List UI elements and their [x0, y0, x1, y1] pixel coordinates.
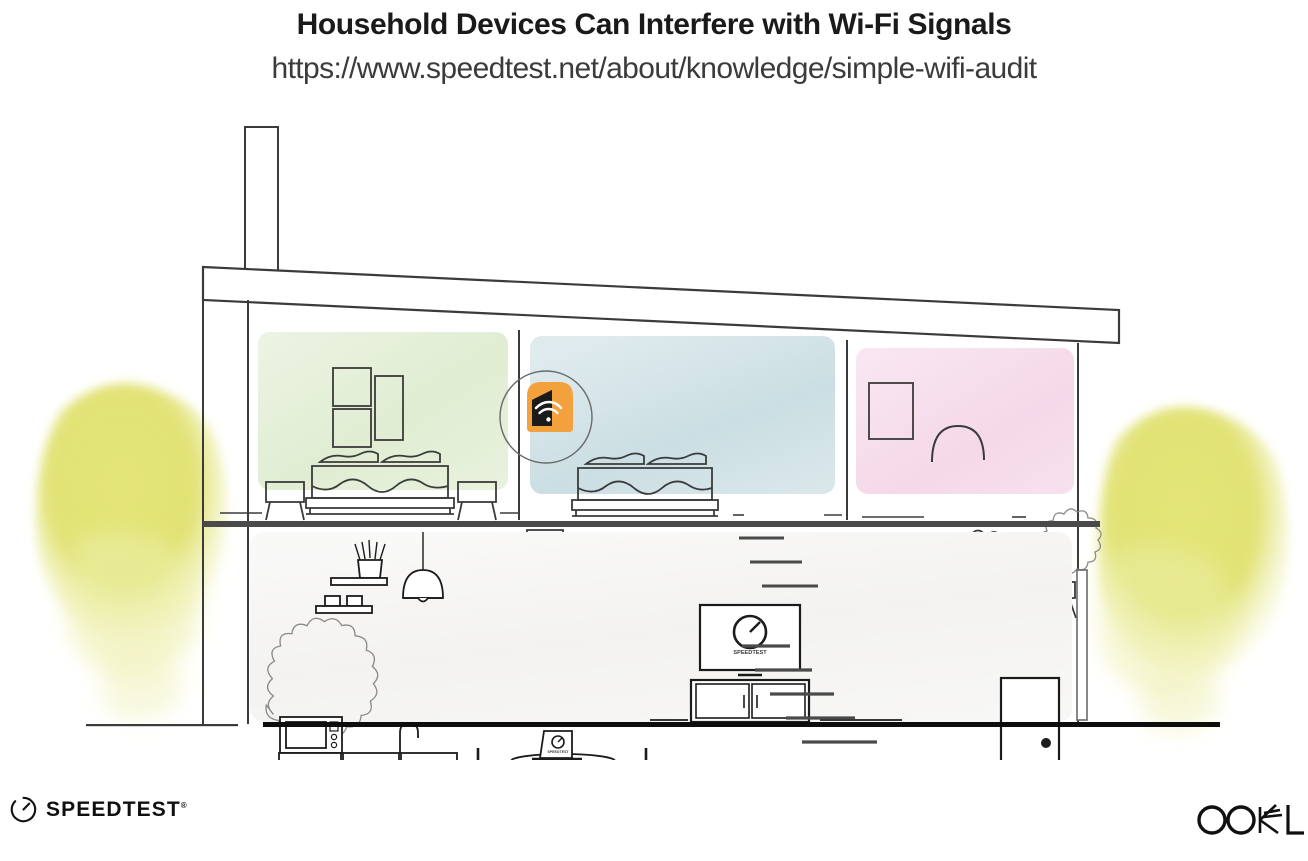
- ookla-logo[interactable]: ®: [1190, 798, 1308, 842]
- speedtest-registered-mark: ®: [181, 801, 188, 810]
- footer-brand-bar: SPEEDTEST® ®: [0, 780, 1308, 861]
- house-svg: SPEEDTEST: [0, 100, 1308, 760]
- speedtest-gauge-icon: [10, 796, 37, 823]
- sink-faucet: [400, 723, 418, 753]
- kitchen-cabinets: [279, 753, 457, 760]
- svg-text:SPEEDTEST: SPEEDTEST: [547, 750, 569, 754]
- page-title: Household Devices Can Interfere with Wi-…: [0, 8, 1308, 42]
- svg-text:SPEEDTEST: SPEEDTEST: [733, 650, 767, 656]
- speedtest-logo[interactable]: SPEEDTEST®: [10, 796, 188, 823]
- chair-left: [470, 748, 497, 760]
- ookla-wordmark-icon: ®: [1190, 798, 1308, 842]
- speedtest-wordmark: SPEEDTEST®: [46, 799, 188, 820]
- room-bedroom-green: [220, 332, 518, 520]
- wall-shelf-upper: [331, 578, 387, 585]
- tree-right: [1096, 407, 1289, 733]
- wall-shelf-lower: [316, 606, 372, 613]
- ground-line: [86, 722, 1220, 727]
- tree-left: [36, 383, 228, 720]
- floor-slab: [203, 521, 1100, 527]
- source-url: https://www.speedtest.net/about/knowledg…: [0, 52, 1308, 86]
- tv-speedtest: SPEEDTEST: [700, 605, 800, 675]
- chair-right: [620, 748, 647, 760]
- wifi-router-highlight: [527, 382, 573, 432]
- house-illustration: SPEEDTEST: [0, 100, 1308, 760]
- door-knob: [1041, 738, 1051, 748]
- exterior-post: [1077, 570, 1087, 720]
- front-door: [1001, 678, 1059, 760]
- roof: [203, 267, 1119, 343]
- chimney: [245, 127, 278, 272]
- media-console: [691, 680, 809, 722]
- infographic-page: Household Devices Can Interfere with Wi-…: [0, 0, 1308, 861]
